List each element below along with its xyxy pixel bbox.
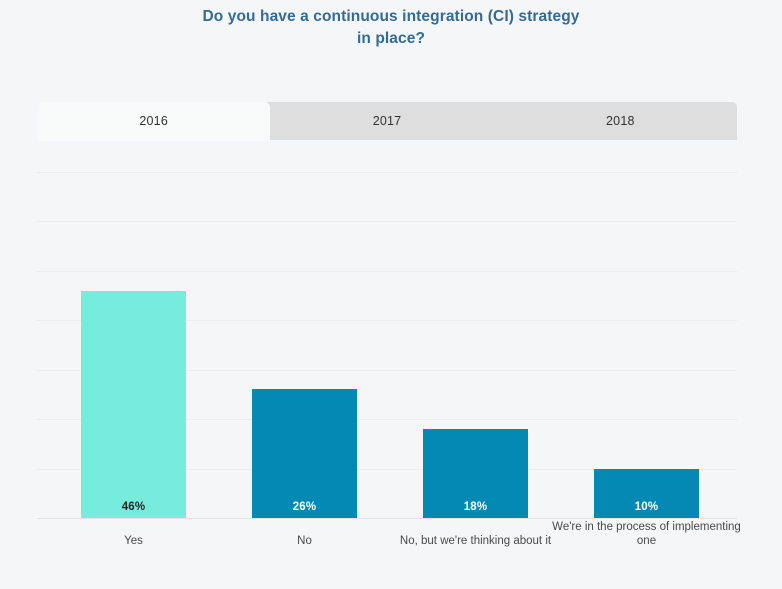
y-axis-label-text: 40 [0, 313, 31, 325]
bar-value-label: 10% [594, 501, 699, 513]
y-axis-label-50: 50 [0, 264, 31, 276]
page-title-line-2: in place? [0, 28, 782, 50]
y-axis-label-text: 50 [0, 264, 31, 276]
bar[interactable]: 18% [423, 429, 528, 518]
bar-value-label: 18% [423, 501, 528, 513]
tab-2018[interactable]: 2018 [504, 102, 737, 140]
y-axis-label-30: 30 [0, 363, 31, 375]
y-axis-label-60: 60 [0, 214, 31, 226]
x-axis-category-label: No [210, 534, 399, 548]
tab-2016[interactable]: 2016 [37, 102, 270, 140]
bar-chart-plot-area: 010203040506070 46%Yes26%No18%No, but we… [37, 140, 737, 552]
tab-2017-label: 2017 [373, 114, 402, 128]
y-axis-label-text: 0 [0, 511, 31, 523]
y-axis-label-20: 20 [0, 412, 31, 424]
y-axis-label-text: 70 [0, 165, 31, 177]
year-tabs: 2016 2017 2018 [37, 102, 737, 140]
x-axis-category-label: We're in the process of implementing one [552, 520, 741, 548]
page-title-line-1: Do you have a continuous integration (CI… [0, 6, 782, 28]
tab-2016-label: 2016 [139, 114, 168, 128]
y-axis-label-70: 70 [0, 165, 31, 177]
x-axis-category-label: No, but we're thinking about it [381, 534, 570, 548]
y-axis-label-text: 10 [0, 462, 31, 474]
y-axis-label-40: 40 [0, 313, 31, 325]
y-axis-label-text: 60 [0, 214, 31, 226]
chart-bars: 46%Yes26%No18%No, but we're thinking abo… [37, 140, 737, 552]
tab-2018-label: 2018 [606, 114, 635, 128]
bar[interactable]: 26% [252, 389, 357, 518]
chart-page: Do you have a continuous integration (CI… [0, 0, 782, 589]
tab-2017[interactable]: 2017 [270, 102, 503, 140]
bar[interactable]: 46% [81, 291, 186, 518]
bar-value-label: 26% [252, 501, 357, 513]
bar-value-label: 46% [81, 501, 186, 513]
page-title: Do you have a continuous integration (CI… [0, 6, 782, 50]
y-axis-label-10: 10 [0, 462, 31, 474]
y-axis-label-text: 20 [0, 412, 31, 424]
bar[interactable]: 10% [594, 469, 699, 518]
y-axis-label-0: 0 [0, 511, 31, 523]
x-axis-category-label: Yes [39, 534, 228, 548]
y-axis-label-text: 30 [0, 363, 31, 375]
